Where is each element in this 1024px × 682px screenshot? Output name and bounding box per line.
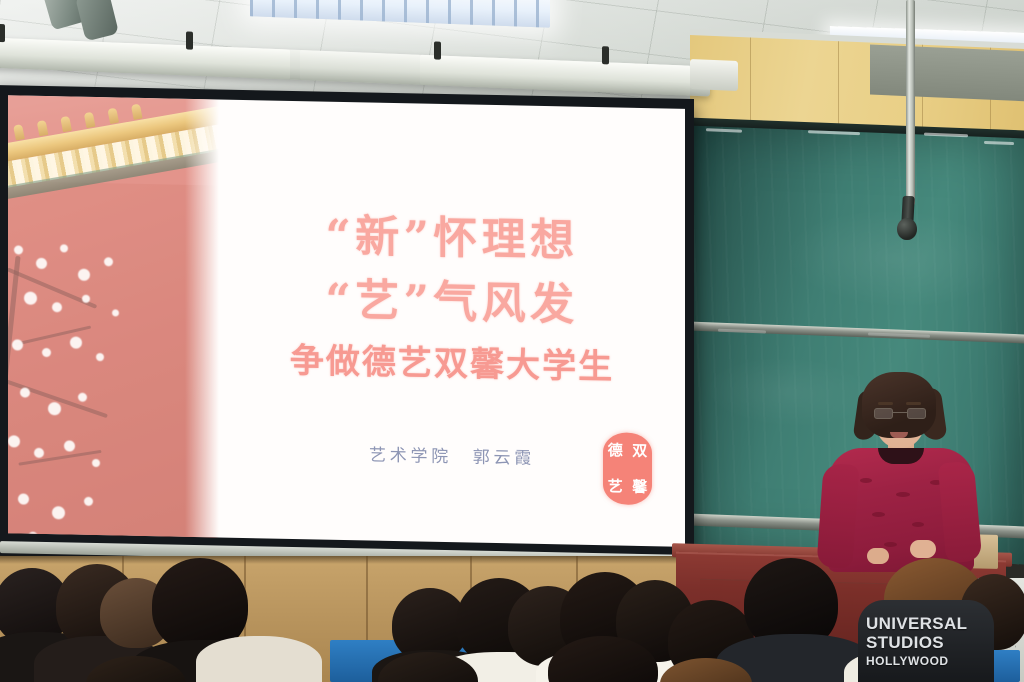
seal-char-2: 双 bbox=[632, 443, 647, 458]
jacket-text-line-2: STUDIOS bbox=[866, 633, 986, 652]
microphone-icon bbox=[897, 218, 917, 240]
slide-subtitle-line: 争做德艺双馨大学生 bbox=[219, 331, 685, 389]
photo-fade-edge bbox=[185, 99, 219, 538]
lecture-hall-scene: “新”怀理想 “艺”气风发 争做德艺双馨大学生 艺术学院 郭云霞 德 双 艺 馨 bbox=[0, 0, 1024, 682]
microphone-pole bbox=[906, 0, 915, 205]
projector-screen: “新”怀理想 “艺”气风发 争做德艺双馨大学生 艺术学院 郭云霞 德 双 艺 馨 bbox=[0, 85, 694, 569]
wall-control-box bbox=[690, 59, 738, 91]
slide-surface: “新”怀理想 “艺”气风发 争做德艺双馨大学生 艺术学院 郭云霞 德 双 艺 馨 bbox=[8, 95, 685, 547]
slide-text-area: “新”怀理想 “艺”气风发 争做德艺双馨大学生 艺术学院 郭云霞 德 双 艺 馨 bbox=[219, 99, 685, 546]
seal-char-1: 德 bbox=[608, 443, 623, 458]
jacket-text-line-1: UNIVERSAL bbox=[866, 614, 986, 633]
glasses-icon bbox=[874, 408, 926, 419]
audience-shoulders bbox=[196, 636, 322, 682]
window-valance bbox=[870, 45, 1024, 102]
slide-title-line-2: “艺”气风发 bbox=[219, 261, 685, 334]
slide-photo-panel bbox=[8, 95, 219, 537]
slide-title-line-1: “新”怀理想 bbox=[219, 197, 685, 270]
seal-char-3: 艺 bbox=[608, 479, 623, 494]
jacket-text-line-3: HOLLYWOOD bbox=[866, 652, 986, 671]
jacket-print-text: UNIVERSAL STUDIOS HOLLYWOOD bbox=[866, 614, 986, 671]
slide-seal-stamp: 德 双 艺 馨 bbox=[603, 432, 652, 505]
presenter-hair bbox=[862, 372, 936, 438]
seal-char-4: 馨 bbox=[632, 479, 647, 494]
